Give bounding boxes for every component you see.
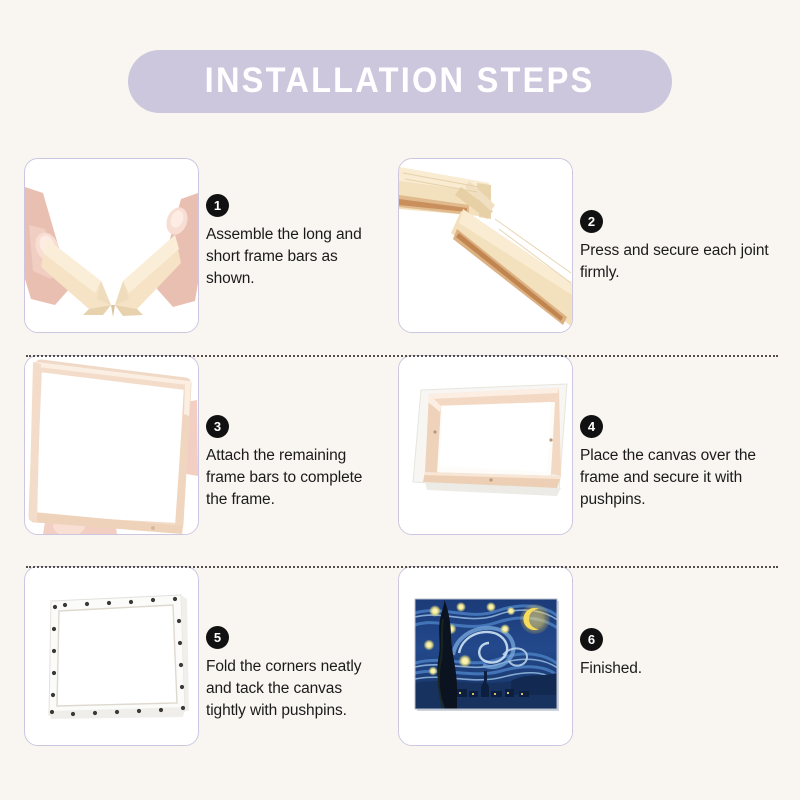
step-text: Attach the remaining frame bars to compl… bbox=[206, 445, 371, 511]
step-item-2: 2 Press and secure each joint firmly. bbox=[374, 158, 800, 355]
step-caption: 3 Attach the remaining frame bars to com… bbox=[199, 355, 371, 511]
step-item-6: 6 Finished. bbox=[374, 566, 800, 766]
step-row: 5 Fold the corners neatly and tack the c… bbox=[0, 566, 800, 766]
step-caption: 2 Press and secure each joint firmly. bbox=[573, 158, 773, 284]
step-text: Press and secure each joint firmly. bbox=[580, 240, 773, 284]
step-item-1: 1 Assemble the long and short frame bars… bbox=[0, 158, 374, 355]
step-caption: 6 Finished. bbox=[573, 566, 773, 680]
finished-starry-night-canvas-photo bbox=[398, 566, 573, 746]
steps-grid: 1 Assemble the long and short frame bars… bbox=[0, 158, 800, 766]
header-pill: INSTALLATION STEPS bbox=[128, 50, 671, 113]
step-badge: 3 bbox=[206, 415, 229, 438]
section-divider bbox=[26, 566, 778, 568]
step-badge: 4 bbox=[580, 415, 603, 438]
step-badge: 2 bbox=[580, 210, 603, 233]
canvas-back-pushpins-illustration bbox=[25, 567, 198, 745]
frame-over-canvas-photo bbox=[398, 355, 573, 535]
step-text: Fold the corners neatly and tack the can… bbox=[206, 656, 371, 722]
step-row: 1 Assemble the long and short frame bars… bbox=[0, 158, 800, 355]
step-text: Finished. bbox=[580, 658, 773, 680]
wooden-corner-joint-closeup-photo bbox=[398, 158, 573, 333]
starry-night-painting-illustration bbox=[399, 567, 572, 745]
hand-holding-assembled-frame-photo bbox=[24, 355, 199, 535]
step-text: Place the canvas over the frame and secu… bbox=[580, 445, 773, 511]
canvas-back-with-pushpins-photo bbox=[24, 566, 199, 746]
page-title: INSTALLATION STEPS bbox=[205, 63, 595, 98]
step-item-4: 4 Place the canvas over the frame and se… bbox=[374, 355, 800, 566]
hands-holding-two-frame-bars-photo bbox=[24, 158, 199, 333]
header: INSTALLATION STEPS bbox=[0, 50, 800, 113]
step-item-5: 5 Fold the corners neatly and tack the c… bbox=[0, 566, 374, 766]
corner-joint-illustration bbox=[399, 159, 572, 332]
section-divider bbox=[26, 355, 778, 357]
step-caption: 1 Assemble the long and short frame bars… bbox=[199, 158, 371, 290]
step-badge: 6 bbox=[580, 628, 603, 651]
step-text: Assemble the long and short frame bars a… bbox=[206, 224, 371, 290]
step-badge: 5 bbox=[206, 626, 229, 649]
step-item-3: 3 Attach the remaining frame bars to com… bbox=[0, 355, 374, 566]
frame-over-canvas-illustration bbox=[399, 356, 572, 534]
assembled-frame-illustration bbox=[25, 356, 198, 534]
step-row: 3 Attach the remaining frame bars to com… bbox=[0, 355, 800, 566]
step-caption: 5 Fold the corners neatly and tack the c… bbox=[199, 566, 371, 722]
step-caption: 4 Place the canvas over the frame and se… bbox=[573, 355, 773, 511]
frame-bars-illustration bbox=[25, 159, 198, 332]
step-badge: 1 bbox=[206, 194, 229, 217]
installation-steps-infographic: INSTALLATION STEPS bbox=[0, 0, 800, 800]
